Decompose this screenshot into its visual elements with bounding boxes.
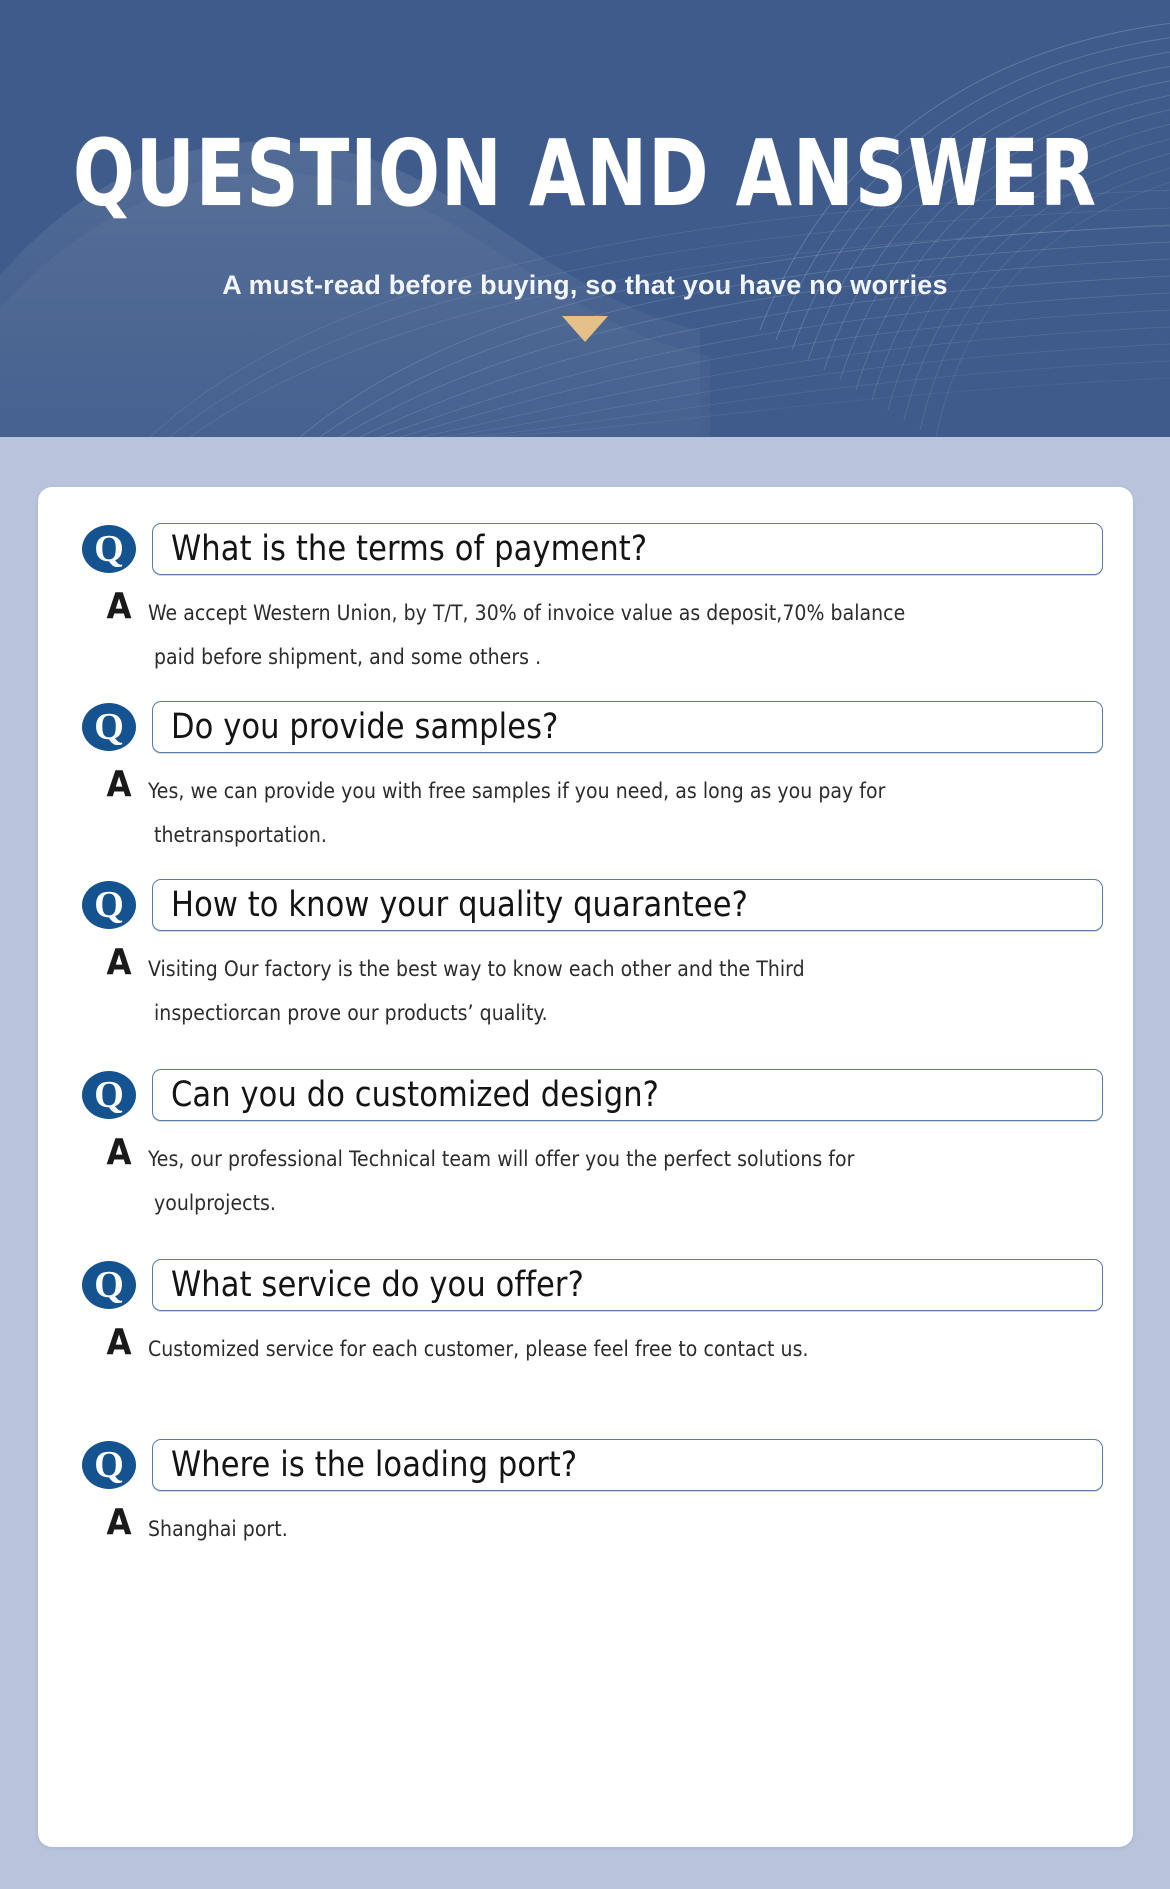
question-box[interactable]: Can you do customized design? <box>152 1069 1103 1121</box>
answer-line-1: Visiting Our factory is the best way to … <box>148 957 805 981</box>
svg-text:Q: Q <box>94 528 124 570</box>
answer-row: A Yes, we can provide you with free samp… <box>80 767 1103 857</box>
q-badge-icon: Q <box>80 524 138 574</box>
answer-text: Shanghai port. <box>148 1505 1103 1551</box>
faq-item: Q What is the terms of payment? A We acc… <box>80 523 1103 679</box>
question-text: How to know your quality quarantee? <box>171 886 748 924</box>
faq-card: Q What is the terms of payment? A We acc… <box>38 487 1133 1847</box>
answer-row: A Shanghai port. <box>80 1505 1103 1551</box>
faq-item: Q Can you do customized design? A Yes, o… <box>80 1069 1103 1225</box>
faq-list: Q What is the terms of payment? A We acc… <box>38 523 1133 1551</box>
answer-line-2: thetransportation. <box>148 813 1103 857</box>
page-subtitle: A must-read before buying, so that you h… <box>222 268 947 302</box>
answer-row: A Yes, our professional Technical team w… <box>80 1135 1103 1225</box>
svg-text:Q: Q <box>94 1444 124 1486</box>
q-badge-icon: Q <box>80 702 138 752</box>
q-badge-icon: Q <box>80 880 138 930</box>
question-row[interactable]: Q How to know your quality quarantee? <box>80 879 1103 931</box>
question-text: Can you do customized design? <box>171 1076 659 1114</box>
answer-text: Customized service for each customer, pl… <box>148 1325 1103 1371</box>
question-box[interactable]: Where is the loading port? <box>152 1439 1103 1491</box>
q-badge-icon: Q <box>80 1440 138 1490</box>
answer-line-1: Shanghai port. <box>148 1517 288 1541</box>
question-box[interactable]: What is the terms of payment? <box>152 523 1103 575</box>
faq-item: Q Where is the loading port? A Shanghai … <box>80 1439 1103 1551</box>
answer-line-2: inspectiorcan prove our products’ qualit… <box>148 991 1103 1035</box>
question-row[interactable]: Q What is the terms of payment? <box>80 523 1103 575</box>
a-label: A <box>102 589 136 625</box>
answer-line-1: Yes, we can provide you with free sample… <box>148 779 885 803</box>
answer-line-1: We accept Western Union, by T/T, 30% of … <box>148 601 905 625</box>
a-label: A <box>102 1135 136 1171</box>
question-text: Where is the loading port? <box>171 1446 577 1484</box>
answer-row: A Visiting Our factory is the best way t… <box>80 945 1103 1035</box>
question-row[interactable]: Q Where is the loading port? <box>80 1439 1103 1491</box>
a-label: A <box>102 1325 136 1361</box>
question-row[interactable]: Q Can you do customized design? <box>80 1069 1103 1121</box>
faq-item: Q How to know your quality quarantee? A … <box>80 879 1103 1035</box>
answer-text: We accept Western Union, by T/T, 30% of … <box>148 589 1103 679</box>
svg-text:Q: Q <box>94 706 124 748</box>
q-badge-icon: Q <box>80 1070 138 1120</box>
question-box[interactable]: What service do you offer? <box>152 1259 1103 1311</box>
question-text: Do you provide samples? <box>171 708 558 746</box>
answer-text: Visiting Our factory is the best way to … <box>148 945 1103 1035</box>
answer-row: A Customized service for each customer, … <box>80 1325 1103 1371</box>
a-label: A <box>102 1505 136 1541</box>
question-box[interactable]: How to know your quality quarantee? <box>152 879 1103 931</box>
svg-text:Q: Q <box>94 884 124 926</box>
question-text: What is the terms of payment? <box>171 530 647 568</box>
question-box[interactable]: Do you provide samples? <box>152 701 1103 753</box>
page-banner: QUESTION AND ANSWER A must-read before b… <box>0 0 1170 437</box>
answer-line-2: paid before shipment, and some others . <box>148 635 1103 679</box>
svg-text:Q: Q <box>94 1074 124 1116</box>
answer-line-1: Yes, our professional Technical team wil… <box>148 1147 854 1171</box>
answer-line-2: youlprojects. <box>148 1181 1103 1225</box>
q-badge-icon: Q <box>80 1260 138 1310</box>
svg-text:Q: Q <box>94 1264 124 1306</box>
question-row[interactable]: Q What service do you offer? <box>80 1259 1103 1311</box>
triangle-down-icon <box>562 316 608 342</box>
answer-row: A We accept Western Union, by T/T, 30% o… <box>80 589 1103 679</box>
answer-text: Yes, we can provide you with free sample… <box>148 767 1103 857</box>
faq-item: Q Do you provide samples? A Yes, we can … <box>80 701 1103 857</box>
a-label: A <box>102 945 136 981</box>
page-title: QUESTION AND ANSWER <box>73 128 1097 220</box>
faq-item: Q What service do you offer? A Customize… <box>80 1259 1103 1371</box>
question-row[interactable]: Q Do you provide samples? <box>80 701 1103 753</box>
answer-line-1: Customized service for each customer, pl… <box>148 1337 809 1361</box>
answer-text: Yes, our professional Technical team wil… <box>148 1135 1103 1225</box>
question-text: What service do you offer? <box>171 1266 584 1304</box>
a-label: A <box>102 767 136 803</box>
